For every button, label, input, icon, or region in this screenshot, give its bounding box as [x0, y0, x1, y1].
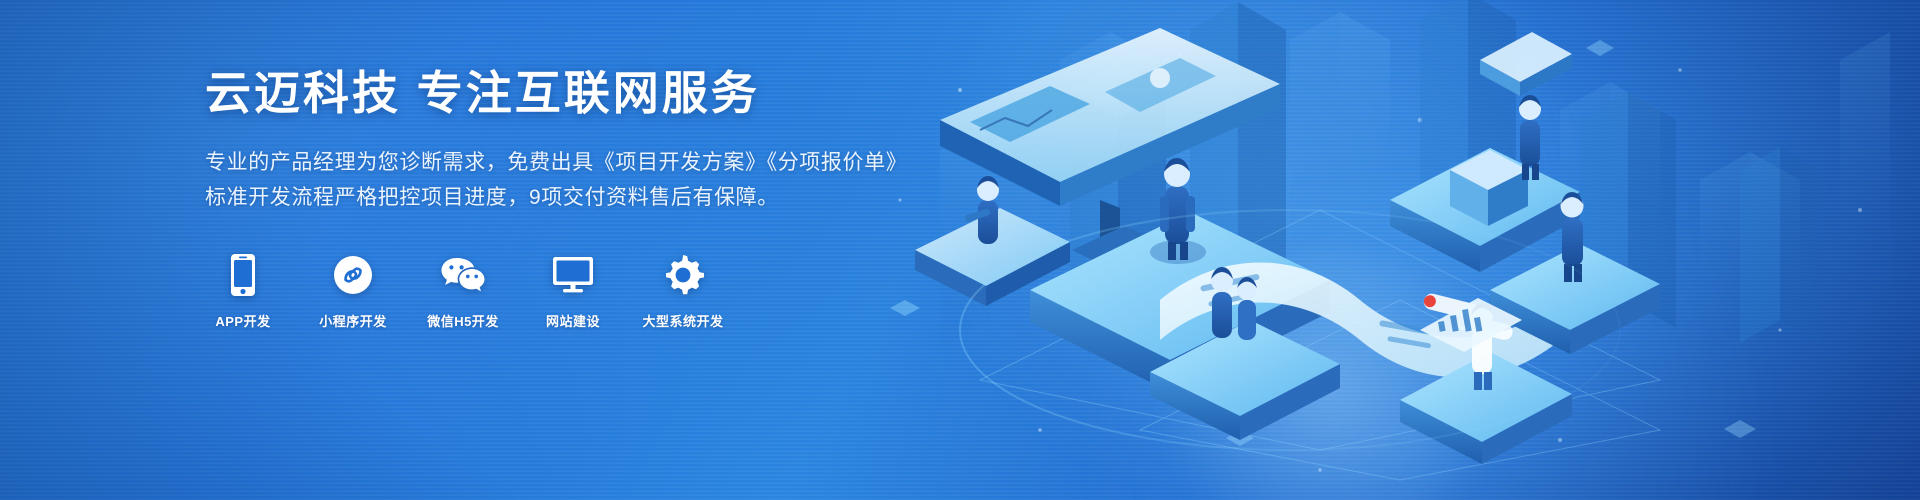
- page-title: 云迈科技 专注互联网服务: [205, 66, 965, 121]
- subtitle-line-1: 专业的产品经理为您诊断需求，免费出具《项目开发方案》《分项报价单》: [205, 145, 965, 180]
- banner-content: 云迈科技 专注互联网服务 专业的产品经理为您诊断需求，免费出具《项目开发方案》《…: [205, 66, 965, 330]
- service-label: 微信H5开发: [427, 311, 499, 330]
- person-right-upper: [1519, 95, 1541, 180]
- wechat-icon: [440, 253, 486, 297]
- service-item-system[interactable]: 大型系统开发: [645, 253, 721, 330]
- monitor-icon: [552, 253, 594, 297]
- subtitle-line-2: 标准开发流程严格把控项目进度，9项交付资料售后有保障。: [205, 180, 965, 215]
- service-label: 小程序开发: [319, 311, 387, 330]
- service-label: APP开发: [215, 311, 270, 330]
- service-item-wechat[interactable]: 微信H5开发: [425, 253, 501, 330]
- service-label: 大型系统开发: [643, 311, 724, 330]
- service-list: APP开发 小程序开发: [205, 253, 965, 330]
- service-item-miniprogram[interactable]: 小程序开发: [315, 253, 391, 330]
- isometric-tech-scene-svg: [860, 0, 1920, 500]
- hero-banner: 云迈科技 专注互联网服务 专业的产品经理为您诊断需求，免费出具《项目开发方案》《…: [0, 0, 1920, 500]
- service-item-website[interactable]: 网站建设: [535, 253, 611, 330]
- mini-program-icon: [333, 253, 373, 297]
- service-item-app[interactable]: APP开发: [205, 253, 281, 330]
- illustration: [860, 0, 1920, 500]
- service-label: 网站建设: [546, 311, 600, 330]
- mobile-phone-icon: [229, 253, 257, 297]
- right-upper-platform: [1390, 148, 1580, 272]
- gear-icon: [662, 253, 704, 297]
